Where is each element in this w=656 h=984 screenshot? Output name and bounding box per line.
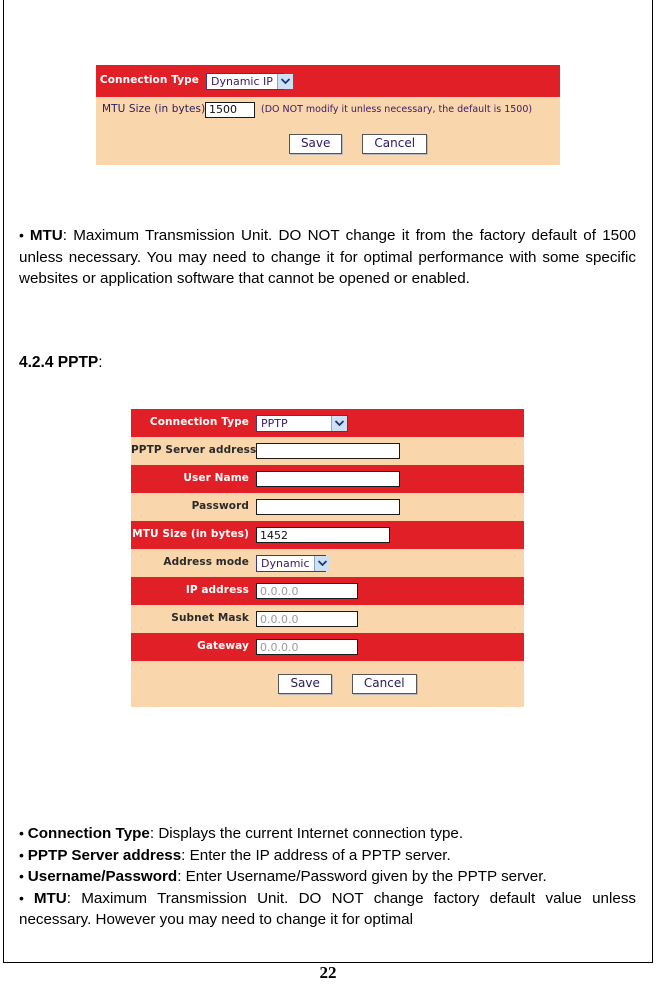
text-mtu: : Maximum Transmission Unit. DO NOT chan… xyxy=(19,890,636,929)
save-button[interactable]: Save xyxy=(289,134,342,154)
input-password[interactable] xyxy=(256,499,400,515)
button-bar-dynamic: Save Cancel xyxy=(96,122,560,165)
cancel-button[interactable]: Cancel xyxy=(362,134,427,154)
heading-text: 4.2.4 PPTP xyxy=(19,354,98,371)
row-subnet-mask: Subnet Mask 0.0.0.0 xyxy=(131,605,524,633)
input-gateway[interactable]: 0.0.0.0 xyxy=(256,639,358,655)
screenshot-dynamic-ip-settings: Connection Type Dynamic IP MTU Size (in … xyxy=(96,65,560,165)
input-user-name[interactable] xyxy=(256,471,400,487)
button-bar-pptp: Save Cancel xyxy=(131,661,524,707)
paragraph-mtu-description: • MTU: Maximum Transmission Unit. DO NOT… xyxy=(19,225,636,290)
label-gateway: Gateway xyxy=(131,641,256,653)
term-mtu: MTU xyxy=(30,227,63,244)
row-mtu-size: MTU Size (in bytes) 1452 xyxy=(131,521,524,549)
row-connection-type: Connection Type Dynamic IP xyxy=(96,65,560,97)
label-password: Password xyxy=(131,501,256,513)
note-mtu-size: (DO NOT modify it unless necessary, the … xyxy=(261,104,532,115)
input-subnet-mask[interactable]: 0.0.0.0 xyxy=(256,611,358,627)
select-connection-type-value: PPTP xyxy=(257,416,292,431)
manual-page: Connection Type Dynamic IP MTU Size (in … xyxy=(0,0,656,984)
row-gateway: Gateway 0.0.0.0 xyxy=(131,633,524,661)
select-connection-type[interactable]: PPTP xyxy=(256,415,348,432)
heading-section-4-2-4: 4.2.4 PPTP: xyxy=(19,354,103,372)
label-connection-type: Connection Type xyxy=(131,417,256,429)
heading-colon: : xyxy=(98,354,102,371)
row-mtu-size: MTU Size (in bytes) 1500 (DO NOT modify … xyxy=(96,97,560,122)
row-password: Password xyxy=(131,493,524,521)
text-username-password: : Enter Username/Password given by the P… xyxy=(177,868,546,885)
select-address-mode[interactable]: Dynamic xyxy=(256,555,326,572)
row-address-mode: Address mode Dynamic xyxy=(131,549,524,577)
chevron-down-icon xyxy=(277,74,293,89)
label-mtu-size: MTU Size (in bytes) xyxy=(131,529,256,541)
select-connection-type[interactable]: Dynamic IP xyxy=(206,73,284,90)
bullet-glyph: • xyxy=(19,825,28,841)
bullet-glyph: • xyxy=(19,227,30,243)
input-ip-address[interactable]: 0.0.0.0 xyxy=(256,583,358,599)
paragraph-pptp-field-descriptions: • Connection Type: Displays the current … xyxy=(19,823,636,931)
input-pptp-server-address[interactable] xyxy=(256,443,400,459)
term-connection-type: Connection Type xyxy=(28,825,150,842)
row-ip-address: IP address 0.0.0.0 xyxy=(131,577,524,605)
label-pptp-server-address: PPTP Server address xyxy=(131,445,256,457)
bullet-glyph: • xyxy=(19,868,28,884)
chevron-down-icon xyxy=(314,556,330,571)
screenshot-pptp-settings: Connection Type PPTP PPTP Server address… xyxy=(131,409,524,703)
row-connection-type: Connection Type PPTP xyxy=(131,409,524,437)
label-connection-type: Connection Type xyxy=(96,75,206,87)
term-username-password: Username/Password xyxy=(28,868,177,885)
page-number: 22 xyxy=(0,963,656,983)
row-pptp-server-address: PPTP Server address xyxy=(131,437,524,465)
term-mtu: MTU xyxy=(34,890,67,907)
list-item: • Username/Password: Enter Username/Pass… xyxy=(19,866,636,888)
list-item: • Connection Type: Displays the current … xyxy=(19,823,636,845)
text-connection-type: : Displays the current Internet connecti… xyxy=(150,825,463,842)
chevron-down-icon xyxy=(331,416,347,431)
text-pptp-server-address: : Enter the IP address of a PPTP server. xyxy=(181,847,451,864)
label-address-mode: Address mode xyxy=(131,557,256,569)
text-mtu-description: : Maximum Transmission Unit. DO NOT chan… xyxy=(19,227,636,287)
label-mtu-size: MTU Size (in bytes) xyxy=(96,104,205,116)
label-ip-address: IP address xyxy=(131,585,256,597)
label-subnet-mask: Subnet Mask xyxy=(131,613,256,625)
bullet-glyph: • xyxy=(19,847,28,863)
select-address-mode-value: Dynamic xyxy=(257,556,314,571)
label-user-name: User Name xyxy=(131,473,256,485)
list-item: • MTU: Maximum Transmission Unit. DO NOT… xyxy=(19,888,636,931)
list-item: • PPTP Server address: Enter the IP addr… xyxy=(19,845,636,867)
cancel-button[interactable]: Cancel xyxy=(352,674,417,694)
term-pptp-server-address: PPTP Server address xyxy=(28,847,181,864)
input-mtu-size[interactable]: 1500 xyxy=(205,102,255,118)
row-user-name: User Name xyxy=(131,465,524,493)
input-mtu-size[interactable]: 1452 xyxy=(256,527,390,543)
bullet-glyph: • xyxy=(19,890,34,906)
select-connection-type-value: Dynamic IP xyxy=(207,74,277,89)
save-button[interactable]: Save xyxy=(278,674,331,694)
